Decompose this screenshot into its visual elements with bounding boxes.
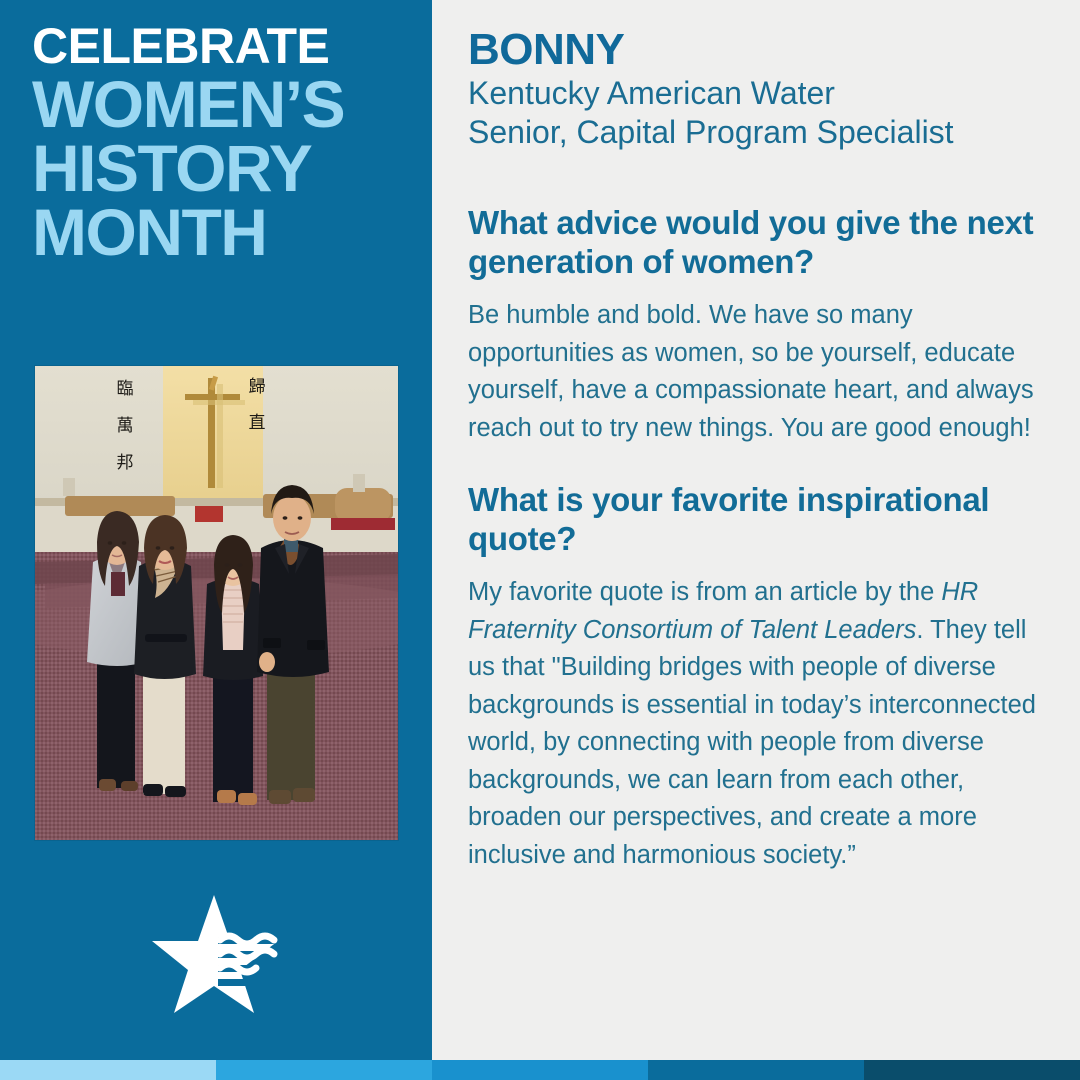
bottom-color-block-5 — [864, 1060, 1080, 1080]
family-photo: 臨 萬 邦 歸 直 — [35, 366, 398, 840]
person-organization: Kentucky American Water — [468, 74, 1044, 113]
answer-1-body: Be humble and bold. We have so many oppo… — [468, 297, 1044, 447]
headline-block: CELEBRATE WOMEN’S HISTORY MONTH — [32, 22, 416, 264]
bottom-color-strip — [0, 1060, 1080, 1080]
bottom-color-block-2 — [216, 1060, 432, 1080]
person-name: BONNY — [468, 28, 1044, 73]
bottom-color-block-3 — [432, 1060, 648, 1080]
bottom-color-block-4 — [648, 1060, 864, 1080]
svg-text:臨: 臨 — [117, 379, 134, 399]
person-job-title: Senior, Capital Program Specialist — [468, 113, 1044, 152]
star-waves-icon — [152, 893, 294, 1013]
svg-text:歸: 歸 — [249, 377, 266, 397]
svg-text:萬: 萬 — [117, 416, 134, 436]
left-panel: CELEBRATE WOMEN’S HISTORY MONTH — [0, 0, 432, 1060]
headline-month: MONTH — [32, 200, 416, 264]
answer-2-body: My favorite quote is from an article by … — [468, 574, 1044, 874]
question-2-heading: What is your favorite inspirational quot… — [468, 481, 1044, 558]
headline-history: HISTORY — [32, 136, 416, 200]
american-water-logo — [152, 893, 294, 1013]
svg-text:直: 直 — [249, 413, 266, 433]
right-panel: BONNY Kentucky American Water Senior, Ca… — [432, 0, 1080, 1060]
headline-womens: WOMEN’S — [32, 72, 416, 136]
question-1-heading: What advice would you give the next gene… — [468, 204, 1044, 281]
celebrate-womens-history-month-poster: CELEBRATE WOMEN’S HISTORY MONTH — [0, 0, 1080, 1080]
family-photo-illustration: 臨 萬 邦 歸 直 — [35, 366, 398, 840]
headline-celebrate: CELEBRATE — [32, 22, 416, 70]
bottom-color-block-1 — [0, 1060, 216, 1080]
svg-text:邦: 邦 — [117, 453, 134, 473]
